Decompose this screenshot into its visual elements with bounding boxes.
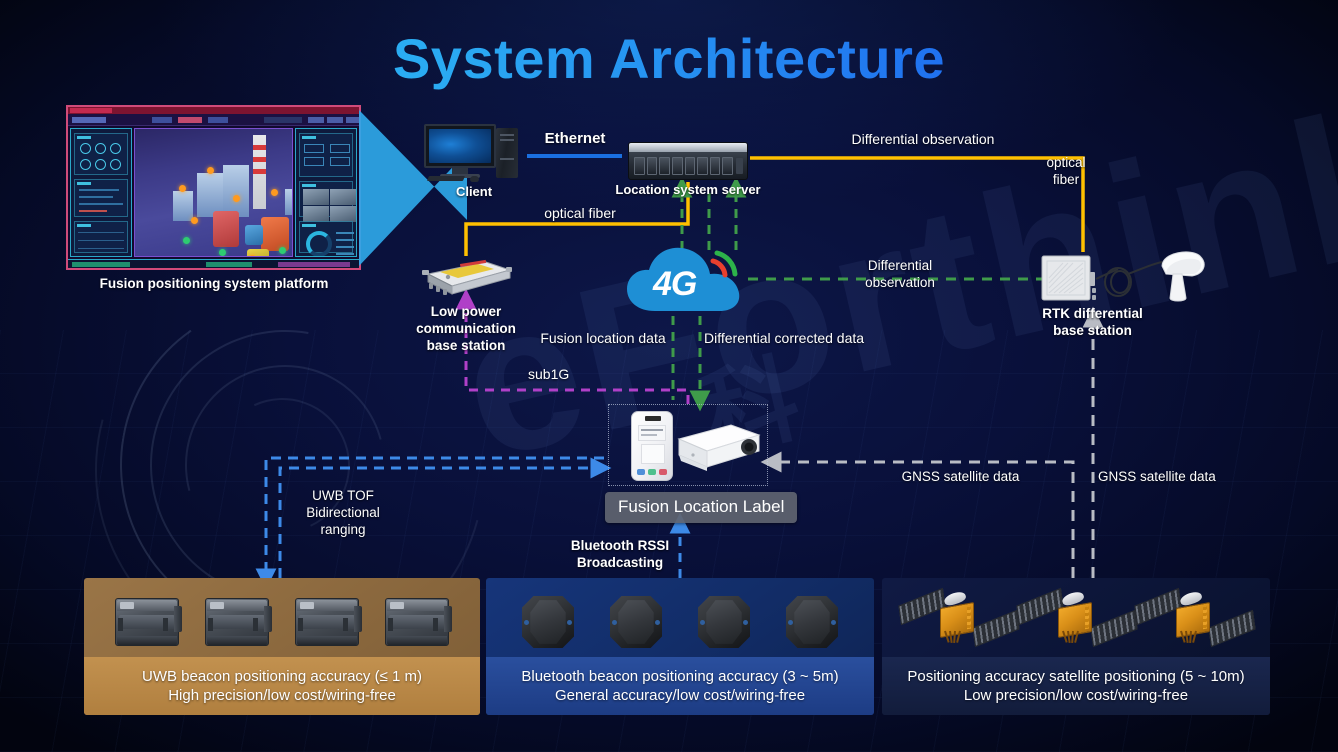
link-label-gnss-right: GNSS satellite data [1098,469,1263,486]
bluetooth-beacon-row [486,586,874,658]
link-label-fusion-location-data: Fusion location data [528,330,678,348]
link-label-differential-observation-mid: Differential observation [840,258,960,292]
bluetooth-beacon-icon [786,596,838,648]
fusion-location-label-pill: Fusion Location Label [605,492,797,523]
uwb-caption-strip: UWB beacon positioning accuracy (≤ 1 m) … [84,657,480,715]
link-label-differential-observation-top: Differential observation [818,131,1028,149]
link-label-bluetooth-rssi: Bluetooth RSSI Broadcasting [560,538,680,572]
decor-arc [148,328,421,601]
page-title: System Architecture [0,26,1338,91]
satellite-caption-line2: Low precision/low cost/wiring-free [964,687,1188,704]
uwb-beacon-icon [205,598,269,646]
link-label-ethernet: Ethernet [520,130,630,149]
fusion-location-label-group [608,404,768,486]
satellite-icon [1136,589,1254,655]
server-icon [628,142,748,180]
cloud-4g-label: 4G [653,265,696,304]
server-caption: Location system server [598,182,778,198]
bluetooth-caption-line1: Bluetooth beacon positioning accuracy (3… [521,668,838,685]
link-label-differential-corrected-data: Differential corrected data [704,330,884,348]
panel-satellite: Positioning accuracy satellite positioni… [882,578,1270,715]
fusion-tag-badge-icon [631,411,673,481]
link-label-optical-fiber-right: optical fiber [1034,155,1098,189]
bluetooth-caption-line2: General accuracy/low cost/wiring-free [555,687,805,704]
slide-canvas: eForthink 科 System Architecture [0,0,1338,752]
link-label-uwb-tof: UWB TOF Bidirectional ranging [288,488,398,539]
panel-uwb: UWB beacon positioning accuracy (≤ 1 m) … [84,578,480,715]
uwb-beacon-row [84,586,480,658]
link-label-gnss-left: GNSS satellite data [878,469,1043,486]
bluetooth-beacon-icon [698,596,750,648]
platform-caption: Fusion positioning system platform [66,276,362,293]
bluetooth-beacon-icon [610,596,662,648]
rtk-base-station-caption: RTK differential base station [1020,306,1165,340]
cloud-4g-icon: 4G [625,243,749,315]
uwb-caption-line1: UWB beacon positioning accuracy (≤ 1 m) [142,668,422,685]
satellite-icon [1018,589,1136,655]
satellite-icon [900,589,1018,655]
client-pc-icon [424,124,524,182]
link-label-sub1g: sub1G [528,366,588,384]
satellite-caption-strip: Positioning accuracy satellite positioni… [882,657,1270,715]
uwb-beacon-icon [385,598,449,646]
low-power-base-station-icon [420,256,512,300]
uwb-caption-line2: High precision/low cost/wiring-free [168,687,396,704]
satellite-caption-line1: Positioning accuracy satellite positioni… [907,668,1244,685]
rtk-base-station-icon [1040,246,1215,308]
bluetooth-caption-strip: Bluetooth beacon positioning accuracy (3… [486,657,874,715]
platform-screenshot [66,105,361,270]
uwb-beacon-icon [295,598,359,646]
bluetooth-beacon-icon [522,596,574,648]
satellite-row [882,586,1270,658]
fusion-box-device-icon [675,423,761,473]
uwb-beacon-icon [115,598,179,646]
panel-bluetooth: Bluetooth beacon positioning accuracy (3… [486,578,874,715]
link-label-optical-fiber-left: optical fiber [520,205,640,223]
low-power-base-station-caption: Low power communication base station [396,304,536,355]
client-caption: Client [424,184,524,200]
